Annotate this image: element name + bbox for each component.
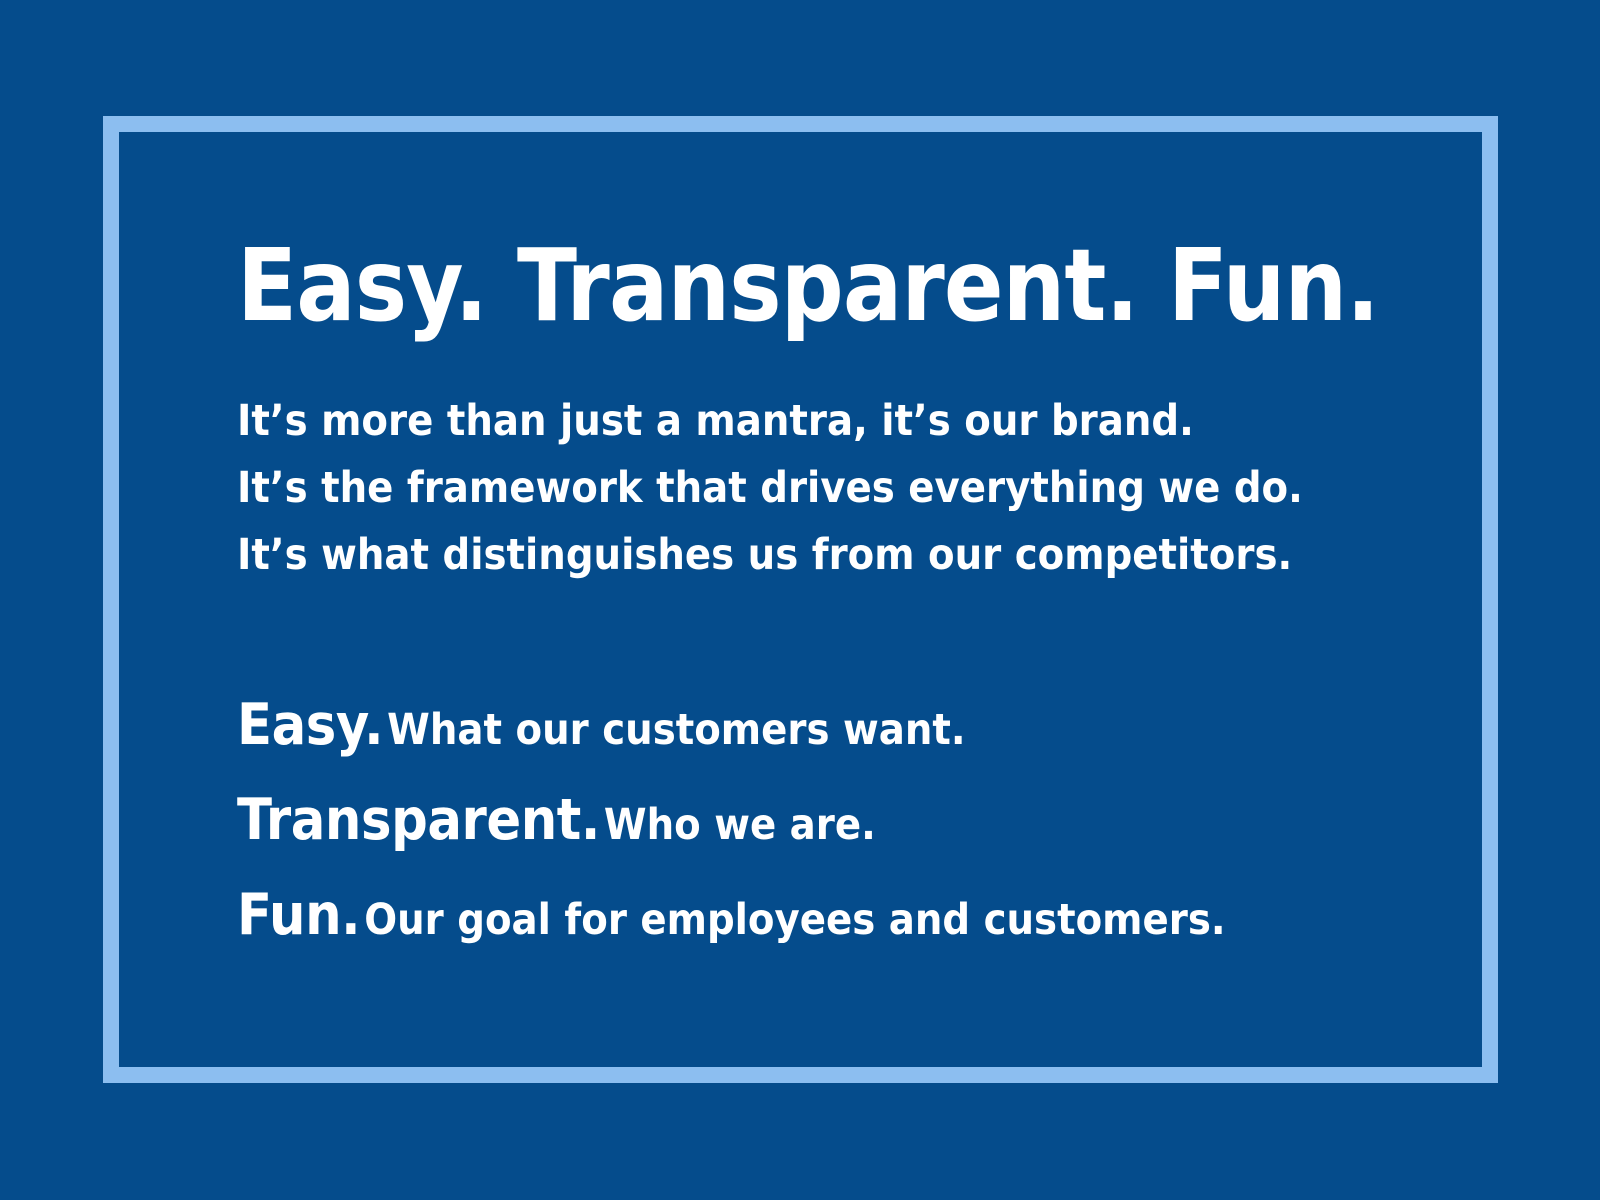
- definition-item-easy: Easy. What our customers want.: [237, 685, 1254, 780]
- definition-term-transparent: Transparent.: [237, 787, 600, 853]
- slide: Easy. Transparent. Fun. It’s more than j…: [0, 0, 1600, 1200]
- slide-content: Easy. Transparent. Fun. It’s more than j…: [237, 232, 1367, 970]
- intro-line-2: It’s the framework that drives everythin…: [237, 455, 1254, 522]
- intro-paragraph: It’s more than just a mantra, it’s our b…: [237, 388, 1367, 589]
- definition-description-easy: What our customers want.: [387, 705, 965, 755]
- intro-line-1: It’s more than just a mantra, it’s our b…: [237, 388, 1254, 455]
- definition-term-easy: Easy.: [237, 692, 383, 758]
- intro-line-3: It’s what distinguishes us from our comp…: [237, 522, 1254, 589]
- definition-description-transparent: Who we are.: [604, 800, 876, 850]
- definition-list: Easy. What our customers want. Transpare…: [237, 685, 1367, 970]
- definition-item-fun: Fun. Our goal for employees and customer…: [237, 875, 1254, 970]
- definition-description-fun: Our goal for employees and customers.: [364, 895, 1225, 945]
- definition-term-fun: Fun.: [237, 882, 360, 948]
- page-title: Easy. Transparent. Fun.: [237, 232, 1231, 340]
- definition-item-transparent: Transparent. Who we are.: [237, 780, 1254, 875]
